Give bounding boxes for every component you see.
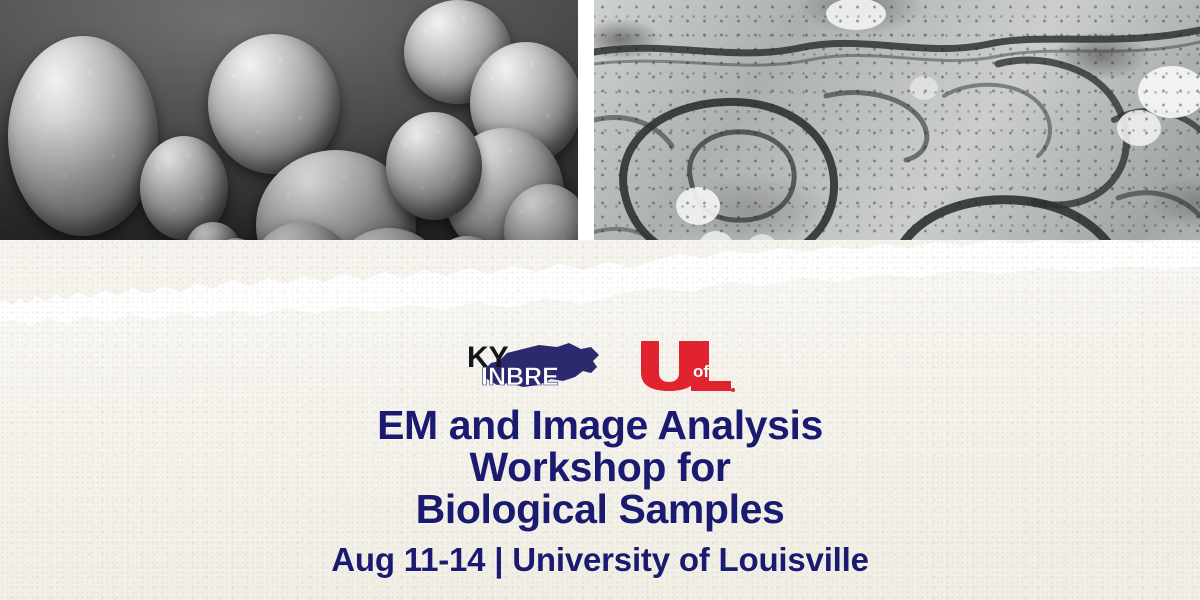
event-banner: KY INBRE of EM and Image Analysis Worksh… bbox=[0, 0, 1200, 600]
uofl-of: of bbox=[693, 362, 709, 381]
uofl-mark: of bbox=[637, 339, 735, 393]
uofl-logo[interactable]: of bbox=[637, 339, 735, 393]
logo-row: KY INBRE of bbox=[0, 336, 1200, 396]
event-subtitle: Aug 11-14 | University of Louisville bbox=[0, 543, 1200, 577]
uofl-u bbox=[641, 341, 697, 391]
headline-block: EM and Image Analysis Workshop for Biolo… bbox=[0, 404, 1200, 577]
uofl-dot bbox=[731, 388, 735, 392]
title-line-3: Biological Samples bbox=[0, 488, 1200, 530]
inbre-text: INBRE bbox=[481, 363, 559, 391]
ky-inbre-logo[interactable]: KY INBRE bbox=[465, 337, 611, 395]
title-line-1: EM and Image Analysis bbox=[0, 404, 1200, 446]
event-title: EM and Image Analysis Workshop for Biolo… bbox=[0, 404, 1200, 530]
ky-inbre-mark: KY INBRE bbox=[465, 337, 611, 395]
title-line-2: Workshop for bbox=[0, 446, 1200, 488]
